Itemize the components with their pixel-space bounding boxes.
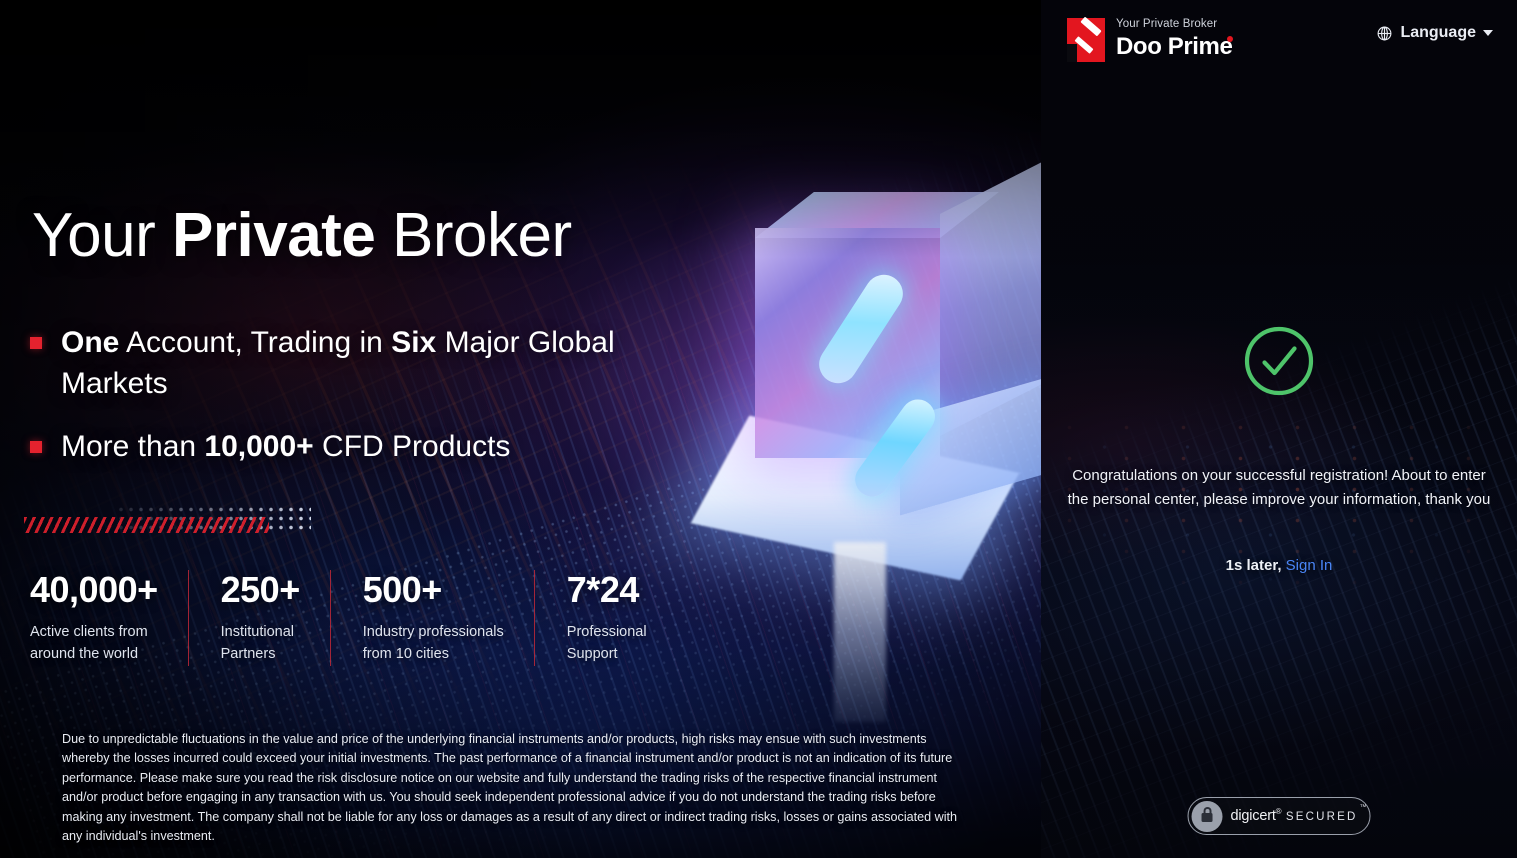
hero-content: Your Private Broker One Account, Trading… (0, 0, 1041, 858)
decorative-red-stripes (24, 517, 269, 533)
registration-success-block: Congratulations on your successful regis… (1041, 325, 1517, 574)
digicert-badge-text: digicert® SECURED ™ (1231, 808, 1358, 824)
brand-name-text: Doo Prime (1116, 33, 1232, 60)
hero-title-pre: Your (32, 201, 172, 270)
registered-mark: ® (1276, 807, 1282, 816)
decorative-stripe-dot-graphic (24, 505, 309, 537)
success-message: Congratulations on your successful regis… (1041, 464, 1517, 513)
countdown-row: 1s later, Sign In (1041, 557, 1517, 574)
chevron-down-icon (1483, 30, 1493, 36)
brand-wordmark: Your Private Broker Doo Prime (1116, 18, 1232, 62)
brand-tagline: Your Private Broker (1116, 18, 1232, 32)
risk-disclaimer-text: Due to unpredictable fluctuations in the… (62, 730, 972, 846)
sign-in-link[interactable]: Sign In (1286, 557, 1333, 574)
brand-name: Doo Prime (1116, 33, 1232, 62)
language-label: Language (1400, 24, 1476, 42)
bullet-square-icon (30, 441, 42, 453)
hero-panel: Your Private Broker One Account, Trading… (0, 0, 1041, 858)
brand-logo[interactable]: Your Private Broker Doo Prime (1067, 18, 1232, 62)
hero-title-post: Broker (375, 201, 571, 270)
doo-prime-logo-icon (1067, 18, 1105, 62)
hero-title-bold: Private (172, 201, 375, 270)
stat-item: 40,000+ Active clients from around the w… (30, 570, 188, 666)
trademark-mark: ™ (1359, 804, 1366, 811)
hero-bullet-1-bold-six: Six (391, 326, 436, 359)
hero-bullet-text: One Account, Trading in Six Major Global… (61, 323, 621, 405)
stat-value: 500+ (363, 570, 504, 610)
hero-bullet-2-mid: CFD Products (314, 430, 511, 463)
stat-label: Professional Support (567, 621, 647, 666)
countdown-text: 1s later, (1226, 557, 1286, 574)
stats-row: 40,000+ Active clients from around the w… (30, 570, 677, 666)
hero-title: Your Private Broker (32, 203, 572, 268)
brand-accent-dot-icon (1227, 36, 1233, 42)
hero-bullet-item: More than 10,000+ CFD Products (30, 427, 621, 468)
hero-bullet-2-pre: More than (61, 430, 204, 463)
stat-item: 500+ Industry professionals from 10 citi… (330, 570, 534, 666)
stat-item: 7*24 Professional Support (534, 570, 677, 666)
hero-bullet-2-bold: 10,000+ (204, 430, 313, 463)
hero-bullet-1-bold-one: One (61, 326, 119, 359)
stat-label: Institutional Partners (221, 621, 300, 666)
language-selector[interactable]: Language (1376, 24, 1493, 42)
stat-label: Active clients from around the world (30, 621, 158, 666)
stat-item: 250+ Institutional Partners (188, 570, 330, 666)
digicert-brand-text: digicert (1231, 808, 1276, 824)
check-circle-icon (1243, 325, 1315, 397)
registration-success-page: Your Private Broker One Account, Trading… (0, 0, 1517, 858)
side-panel-content: Your Private Broker Doo Prime Language (1041, 0, 1517, 858)
bullet-square-icon (30, 337, 42, 349)
padlock-icon (1192, 801, 1223, 832)
stat-value: 250+ (221, 570, 300, 610)
hero-bullet-list: One Account, Trading in Six Major Global… (30, 323, 621, 489)
stat-label: Industry professionals from 10 cities (363, 621, 504, 666)
hero-bullet-1-mid: Account, Trading in (119, 326, 391, 359)
digicert-brand: digicert® (1231, 808, 1282, 824)
stat-value: 40,000+ (30, 570, 158, 610)
stat-value: 7*24 (567, 570, 647, 610)
side-panel: Your Private Broker Doo Prime Language (1041, 0, 1517, 858)
hero-bullet-text: More than 10,000+ CFD Products (61, 427, 510, 468)
hero-bullet-item: One Account, Trading in Six Major Global… (30, 323, 621, 405)
digicert-status: SECURED (1286, 811, 1358, 823)
globe-icon (1376, 25, 1393, 42)
digicert-secured-badge[interactable]: digicert® SECURED ™ (1188, 797, 1371, 835)
